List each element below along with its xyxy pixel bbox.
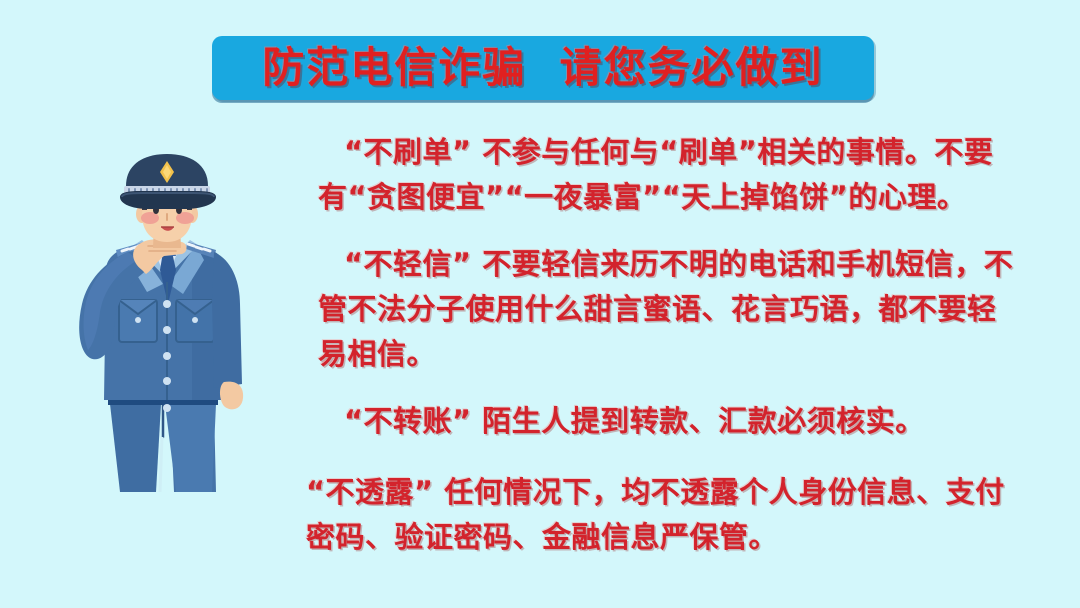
advice-paragraph-no-easy-trust: “不轻信” 不要轻信来历不明的电话和手机短信，不管不法分子使用什么甜言蜜语、花言… — [318, 242, 1018, 377]
advice-paragraph-no-transfer: “不转账” 陌生人提到转款、汇款必须核实。 — [318, 399, 1018, 444]
right-hand — [220, 382, 243, 410]
page-title: 防范电信诈骗 请您务必做到 — [262, 47, 823, 89]
jacket-button — [163, 300, 171, 308]
chest-pocket-left — [119, 300, 157, 342]
officer-svg — [64, 152, 274, 552]
jacket-button — [163, 352, 171, 360]
jacket-button — [163, 377, 171, 385]
advice-text-block: “不刷单” 不参与任何与“刷单”相关的事情。不要有“贪图便宜”“一夜暴富”“天上… — [318, 130, 1018, 560]
jacket-button — [163, 326, 171, 334]
trousers-group — [109, 404, 216, 492]
advice-paragraph-no-order-brushing: “不刷单” 不参与任何与“刷单”相关的事情。不要有“贪图便宜”“一夜暴富”“天上… — [318, 130, 1018, 220]
jacket-button — [163, 404, 171, 412]
poster-root: 防范电信诈骗 请您务必做到 — [0, 0, 1080, 608]
saluting-police-officer-illustration — [64, 152, 274, 552]
right-arm — [212, 252, 243, 409]
police-cap — [120, 154, 216, 209]
chest-pocket-right — [176, 300, 214, 342]
title-banner: 防范电信诈骗 请您务必做到 — [212, 36, 874, 100]
advice-paragraph-no-disclosure: “不透露” 任何情况下，均不透露个人身份信息、支付密码、验证密码、金融信息严保管… — [306, 470, 1018, 560]
